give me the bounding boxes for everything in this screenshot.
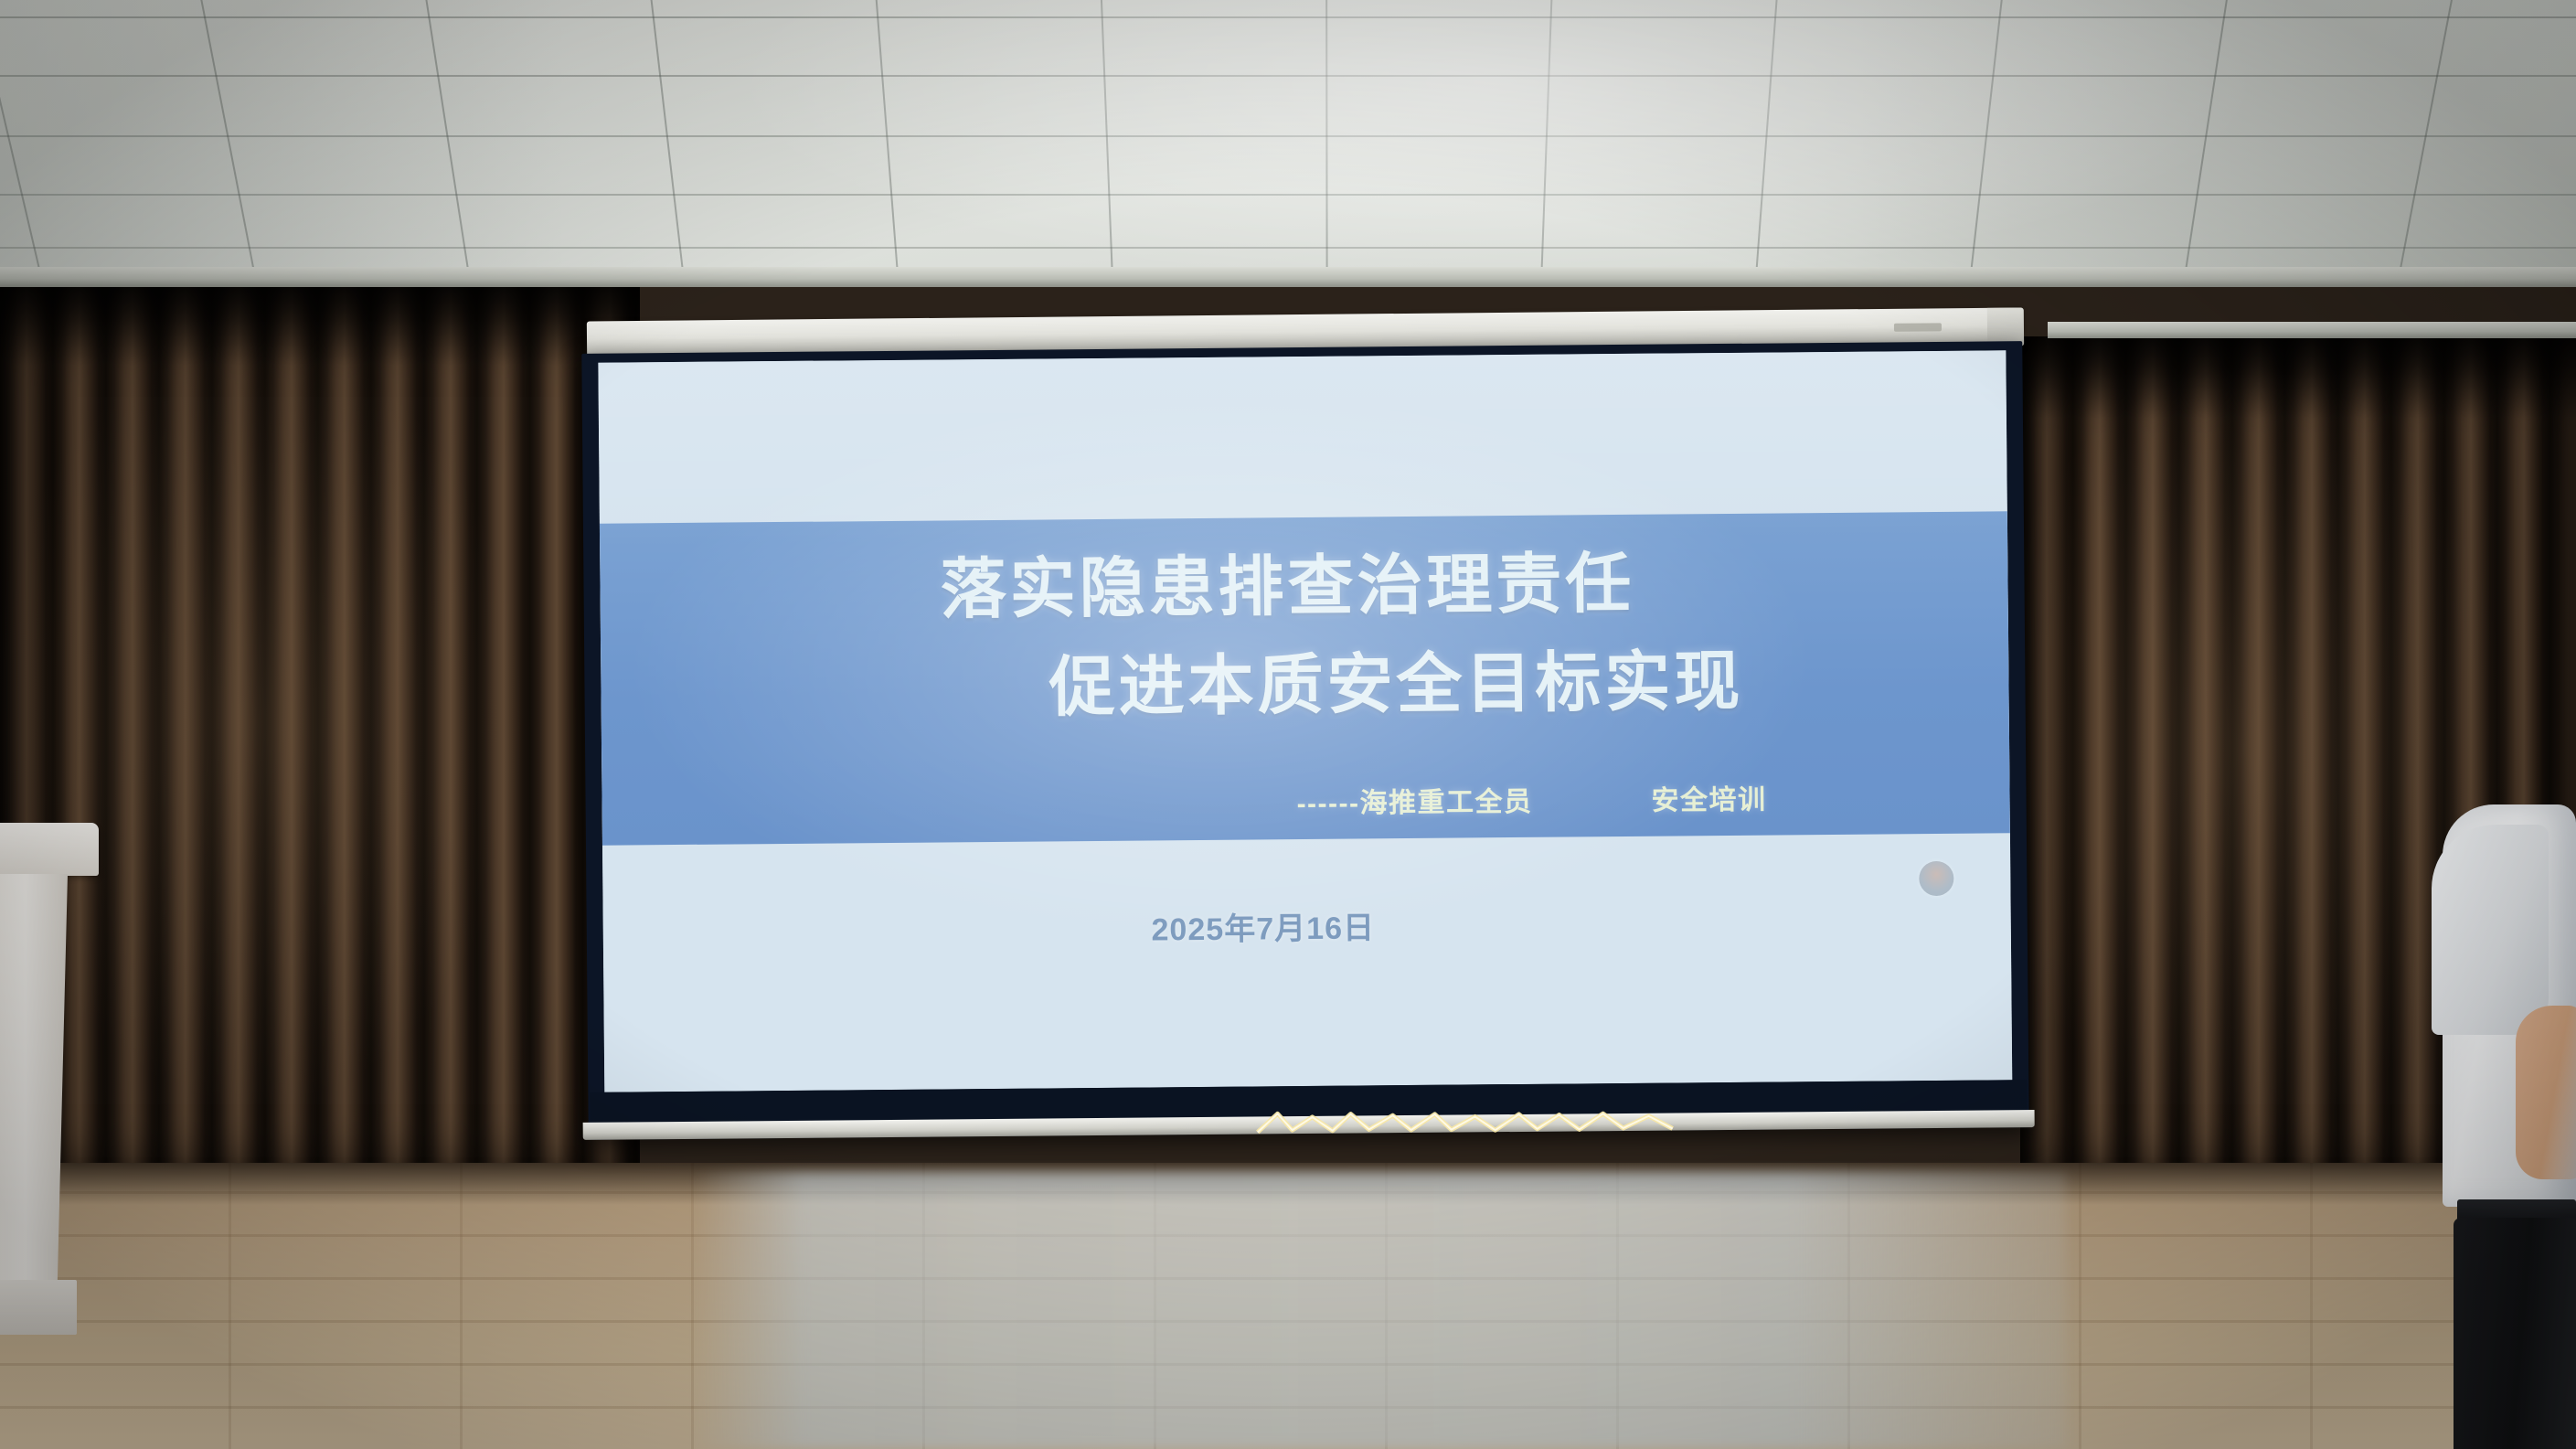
podium-base xyxy=(0,1280,77,1335)
slide-title-banner: 落实隐患排查治理责任 促进本质安全目标实现 ------海推重工全员 安全培训 xyxy=(600,511,2010,845)
curtain-top-shadow-right xyxy=(2020,336,2576,419)
curtain-top-shadow-left xyxy=(0,283,640,366)
curtain-rail-right xyxy=(2048,322,2576,338)
person-arm xyxy=(2516,1006,2576,1179)
avatar-icon xyxy=(1919,861,1953,896)
presentation-slide: 落实隐患排查治理责任 促进本质安全目标实现 ------海推重工全员 安全培训 … xyxy=(598,350,2012,1092)
slide-date-text: 2025年7月16日 xyxy=(603,897,2011,954)
ceiling-shading xyxy=(0,0,2576,274)
screen-surface[interactable]: 落实隐患排查治理责任 促进本质安全目标实现 ------海推重工全员 安全培训 … xyxy=(598,350,2012,1092)
person-shirt-sleeve xyxy=(2432,825,2549,1035)
podium-column xyxy=(0,874,68,1304)
subtitle-spacer xyxy=(1533,798,1652,799)
wood-laminate-floor xyxy=(0,1163,2576,1449)
standing-person xyxy=(2406,804,2576,1449)
slide-subtitle-row: ------海推重工全员 安全培训 xyxy=(601,770,2009,831)
slide-subtitle-topic: 安全培训 xyxy=(1651,777,1766,818)
slide-title-line-1: 落实隐患排查治理责任 xyxy=(600,526,2008,634)
suspended-ceiling xyxy=(0,0,2576,274)
curtain-rail-left xyxy=(0,267,2576,287)
podium-top-surface xyxy=(0,823,99,876)
projector-light-spill xyxy=(695,1172,2066,1449)
slide-subtitle-organization: ------海推重工全员 xyxy=(1296,779,1532,821)
slide-title-line-2: 促进本质安全目标实现 xyxy=(601,624,2009,732)
person-black-trousers xyxy=(2454,1218,2576,1449)
projection-screen[interactable]: 落实隐患排查治理责任 促进本质安全目标实现 ------海推重工全员 安全培训 … xyxy=(581,341,2028,1140)
housing-vent-slot xyxy=(1894,323,1942,331)
speaker-podium xyxy=(0,823,101,1449)
conference-room-scene: 落实隐患排查治理责任 促进本质安全目标实现 ------海推重工全员 安全培训 … xyxy=(0,0,2576,1449)
